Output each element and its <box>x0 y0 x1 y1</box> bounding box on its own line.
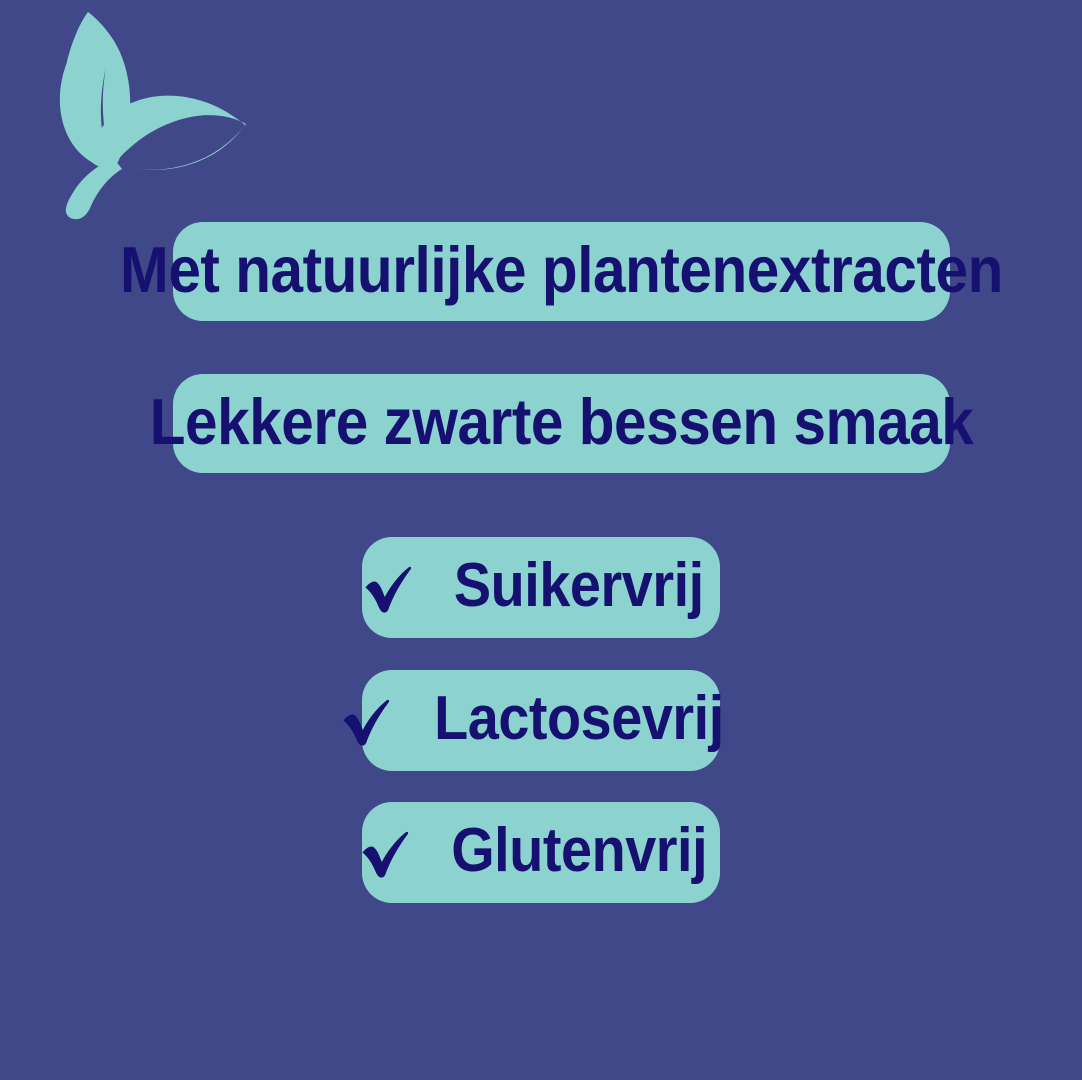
feature-text: Suikervrij <box>454 555 704 621</box>
product-claims-poster: Met natuurlijke plantenextracten Lekkere… <box>0 0 1082 1080</box>
feature-pill: Lactosevrij <box>362 670 720 771</box>
feature-text: Glutenvrij <box>451 820 707 886</box>
feature-text: Lactosevrij <box>434 688 724 754</box>
feature-pill: Glutenvrij <box>362 802 720 903</box>
check-icon <box>359 828 411 880</box>
feature-pill: Suikervrij <box>362 537 720 638</box>
check-icon <box>340 696 392 748</box>
two-leaves-icon <box>60 12 246 219</box>
check-icon <box>362 563 414 615</box>
claim-pill: Lekkere zwarte bessen smaak <box>173 374 950 473</box>
claim-text: Lekkere zwarte bessen smaak <box>150 389 974 458</box>
leaf-logo <box>22 8 254 220</box>
claim-text: Met natuurlijke plantenextracten <box>120 237 1003 306</box>
claim-pill: Met natuurlijke plantenextracten <box>173 222 950 321</box>
